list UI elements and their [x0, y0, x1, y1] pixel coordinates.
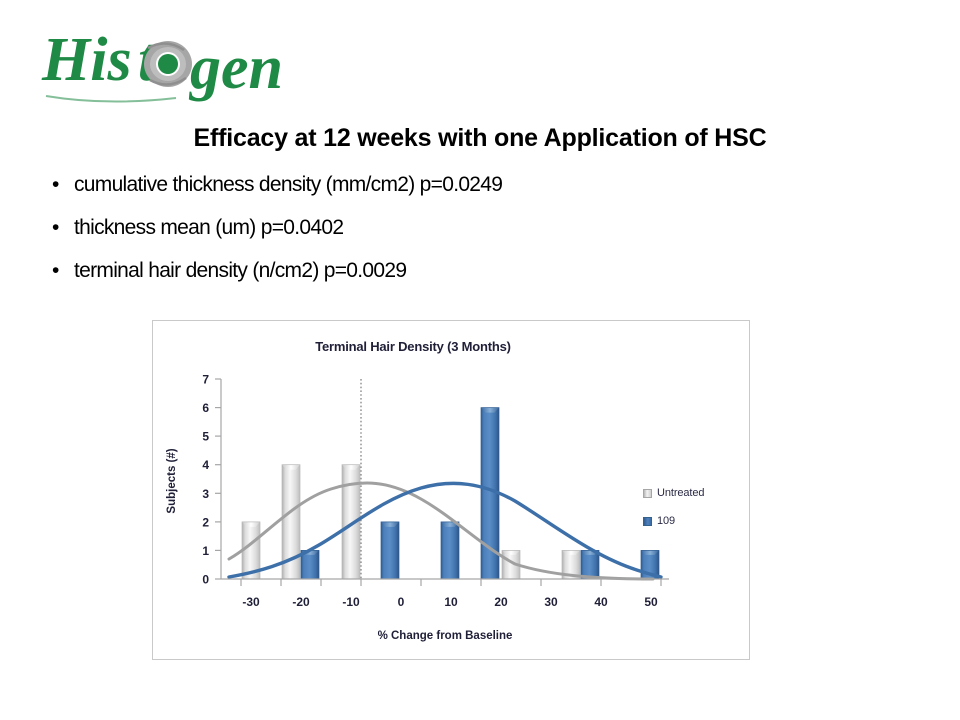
y-tick-label: 5: [202, 430, 209, 444]
legend-swatch-icon: [643, 489, 652, 498]
page-title: Efficacy at 12 weeks with one Applicatio…: [0, 124, 960, 153]
legend-label: Untreated: [657, 487, 704, 499]
x-axis: [221, 579, 669, 586]
histogen-logo-svg: His t gen: [40, 18, 310, 110]
x-tick-label: -20: [292, 595, 310, 609]
bar-series-untreated: [242, 465, 580, 579]
x-tick-label: 50: [644, 595, 658, 609]
y-tick-label: 4: [202, 458, 209, 472]
x-tick-label: 0: [398, 595, 405, 609]
logo-flourish: [46, 96, 176, 102]
histogen-logo: His t gen: [40, 18, 310, 110]
y-tick-label: 2: [202, 515, 209, 529]
bullet-list: • cumulative thickness density (mm/cm2) …: [52, 172, 912, 301]
y-tick-label: 3: [202, 487, 209, 501]
bar-109-40[interactable]: [581, 550, 599, 579]
bullet-marker-icon: •: [52, 258, 74, 284]
bar-109-0[interactable]: [381, 522, 399, 579]
legend-item-untreated[interactable]: Untreated: [643, 487, 748, 499]
x-tick-label: -30: [242, 595, 260, 609]
bullet-marker-icon: •: [52, 172, 74, 198]
list-item: • terminal hair density (n/cm2) p=0.0029: [52, 258, 912, 284]
y-tick-labels: 7 6 5 4 3 2 1 0: [202, 373, 209, 587]
x-tick-label: 40: [594, 595, 608, 609]
x-tick-label: 30: [544, 595, 558, 609]
y-tick-label: 1: [202, 544, 209, 558]
legend-swatch-icon: [643, 517, 652, 526]
x-tick-label: 20: [494, 595, 508, 609]
logo-text-his: His: [41, 26, 132, 94]
y-axis: [215, 379, 221, 579]
legend-label: 109: [657, 515, 675, 527]
x-tick-label: -10: [342, 595, 360, 609]
x-tick-labels: -30 -20 -10 0 10 20 30 40 50: [242, 595, 658, 609]
x-axis-label: % Change from Baseline: [378, 630, 513, 642]
y-tick-label: 7: [202, 373, 209, 387]
bar-109-10[interactable]: [441, 522, 459, 579]
chart-legend: Untreated 109: [643, 487, 748, 543]
slide-canvas: His t gen Efficacy at 12 weeks with one …: [0, 0, 960, 720]
y-tick-label: 6: [202, 401, 209, 415]
y-tick-label: 0: [202, 573, 209, 587]
bullet-marker-icon: •: [52, 215, 74, 241]
x-tick-label: 10: [444, 595, 458, 609]
list-item: • cumulative thickness density (mm/cm2) …: [52, 172, 912, 198]
bullet-text: terminal hair density (n/cm2) p=0.0029: [74, 258, 406, 284]
legend-item-109[interactable]: 109: [643, 515, 748, 527]
y-axis-label: Subjects (#): [166, 448, 178, 513]
list-item: • thickness mean (um) p=0.0402: [52, 215, 912, 241]
bullet-text: cumulative thickness density (mm/cm2) p=…: [74, 172, 502, 198]
chart-panel: Terminal Hair Density (3 Months): [152, 320, 750, 660]
bullet-text: thickness mean (um) p=0.0402: [74, 215, 343, 241]
logo-text-gen: gen: [188, 34, 283, 102]
logo-cell-icon: [144, 41, 192, 87]
